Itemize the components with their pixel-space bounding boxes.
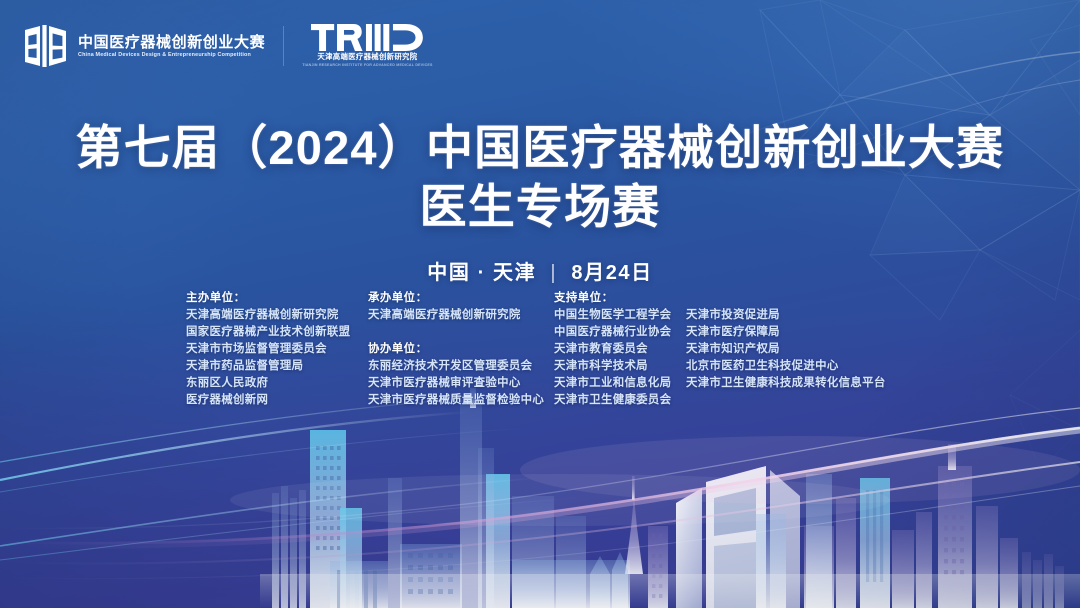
organizers-column-supporters-a: 支持单位： 中国生物医学工程学会 中国医疗器械行业协会 天津市教育委员会 天津市… — [554, 290, 686, 409]
host-item: 医疗器械创新网 — [186, 392, 368, 409]
supporter-item: 天津市医疗保障局 — [686, 324, 896, 341]
supporter-item: 天津市知识产权局 — [686, 341, 896, 358]
competition-logo: 中国医疗器械创新创业大赛 China Medical Devices Desig… — [22, 24, 265, 68]
supporter-item: 中国生物医学工程学会 — [554, 307, 686, 324]
supporter-item: 天津市工业和信息化局 — [554, 375, 686, 392]
event-location: 中国 · 天津 — [427, 262, 536, 284]
host-heading: 主办单位： — [186, 290, 368, 307]
event-datetime-line: 中国 · 天津 | 8月24日 — [0, 256, 1080, 285]
organizers-column-supporters-b: 天津市投资促进局 天津市医疗保障局 天津市知识产权局 北京市医药卫生科技促进中心… — [686, 290, 896, 392]
supporter-item: 天津市投资促进局 — [686, 307, 896, 324]
host-item: 国家医疗器械产业技术创新联盟 — [186, 324, 368, 341]
logo-divider — [283, 26, 284, 66]
triid-wordmark-icon — [311, 24, 425, 51]
organizers-column-host: 主办单位： 天津高端医疗器械创新研究院 国家医疗器械产业技术创新联盟 天津市市场… — [186, 290, 368, 409]
supporter-item: 天津市教育委员会 — [554, 341, 686, 358]
coorganizer-item: 东丽经济技术开发区管理委员会 — [368, 358, 554, 375]
coorganizer-item: 天津市医疗器械审评查验中心 — [368, 375, 554, 392]
header-logo-bar: 中国医疗器械创新创业大赛 China Medical Devices Desig… — [22, 24, 433, 68]
organizer-heading: 承办单位： — [368, 290, 554, 307]
supporter-item: 中国医疗器械行业协会 — [554, 324, 686, 341]
triid-logo: 天津高端医疗器械创新研究院 TIANJIN RESEARCH INSTITUTE… — [302, 24, 432, 67]
competition-logo-chinese-name: 中国医疗器械创新创业大赛 — [78, 35, 265, 51]
title-line-1: 第七届（2024）中国医疗器械创新创业大赛 — [0, 118, 1080, 177]
host-item: 天津市药品监督管理局 — [186, 358, 368, 375]
triid-logo-chinese-name: 天津高端医疗器械创新研究院 — [317, 53, 417, 61]
supporter-item: 天津市卫生健康科技成果转化信息平台 — [686, 375, 896, 392]
poster-title: 第七届（2024）中国医疗器械创新创业大赛 医生专场赛 — [0, 118, 1080, 236]
event-date: 8月24日 — [571, 262, 652, 284]
supporter-item: 北京市医药卫生科技促进中心 — [686, 358, 896, 375]
host-item: 天津高端医疗器械创新研究院 — [186, 307, 368, 324]
supporter-item: 天津市科学技术局 — [554, 358, 686, 375]
title-line-2: 医生专场赛 — [0, 177, 1080, 236]
competition-logo-english-name: China Medical Devices Design & Entrepren… — [78, 53, 265, 59]
supporters-heading: 支持单位： — [554, 290, 686, 307]
organizers-column-organizer: 承办单位： 天津高端医疗器械创新研究院 协办单位： 东丽经济技术开发区管理委员会… — [368, 290, 554, 409]
triid-logo-english-name: TIANJIN RESEARCH INSTITUTE FOR ADVANCED … — [302, 64, 432, 68]
coorganizer-item: 天津市医疗器械质量监督检验中心 — [368, 392, 554, 409]
host-item: 东丽区人民政府 — [186, 375, 368, 392]
supporter-item: 天津市卫生健康委员会 — [554, 392, 686, 409]
organizer-item: 天津高端医疗器械创新研究院 — [368, 307, 554, 324]
open-door-logo-icon — [22, 24, 69, 68]
host-item: 天津市市场监督管理委员会 — [186, 341, 368, 358]
column-spacer — [368, 324, 554, 341]
coorganizer-heading: 协办单位： — [368, 341, 554, 358]
event-poster: 中国医疗器械创新创业大赛 China Medical Devices Desig… — [0, 0, 1080, 608]
event-separator: | — [550, 262, 557, 285]
organizers-block: 主办单位： 天津高端医疗器械创新研究院 国家医疗器械产业技术创新联盟 天津市市场… — [186, 290, 896, 409]
